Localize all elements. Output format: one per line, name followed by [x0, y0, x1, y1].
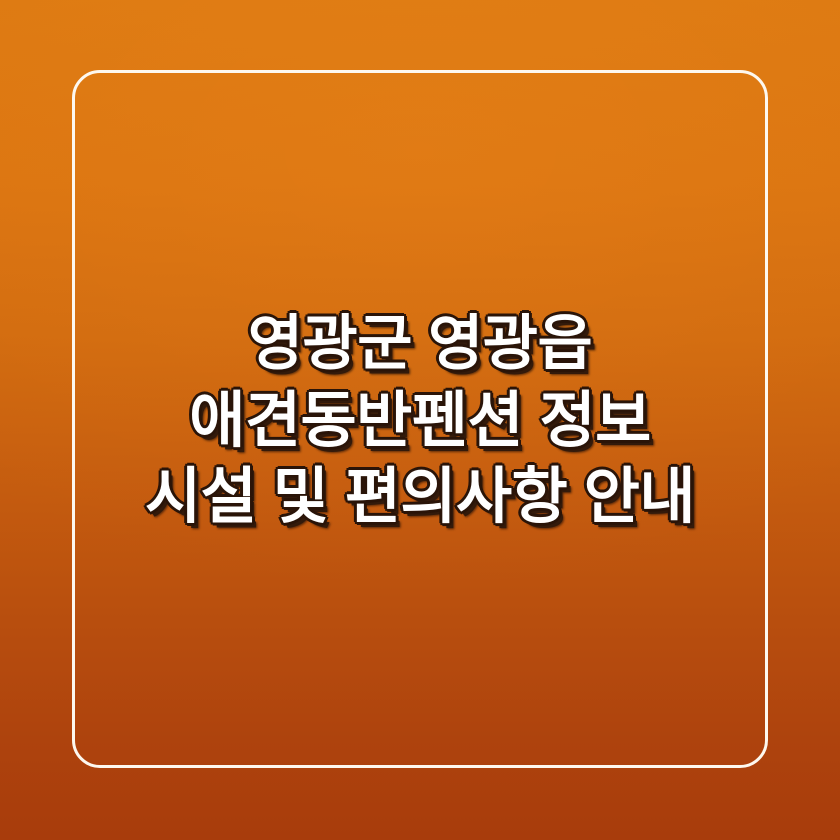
- title-line-1: 영광군 영광읍: [248, 306, 592, 382]
- title-block: 영광군 영광읍 애견동반펜션 정보 시설 및 편의사항 안내: [0, 0, 840, 840]
- title-line-2: 애견동반펜션 정보: [189, 382, 650, 458]
- promo-card: 영광군 영광읍 애견동반펜션 정보 시설 및 편의사항 안내: [0, 0, 840, 840]
- title-line-3: 시설 및 편의사항 안내: [145, 458, 695, 534]
